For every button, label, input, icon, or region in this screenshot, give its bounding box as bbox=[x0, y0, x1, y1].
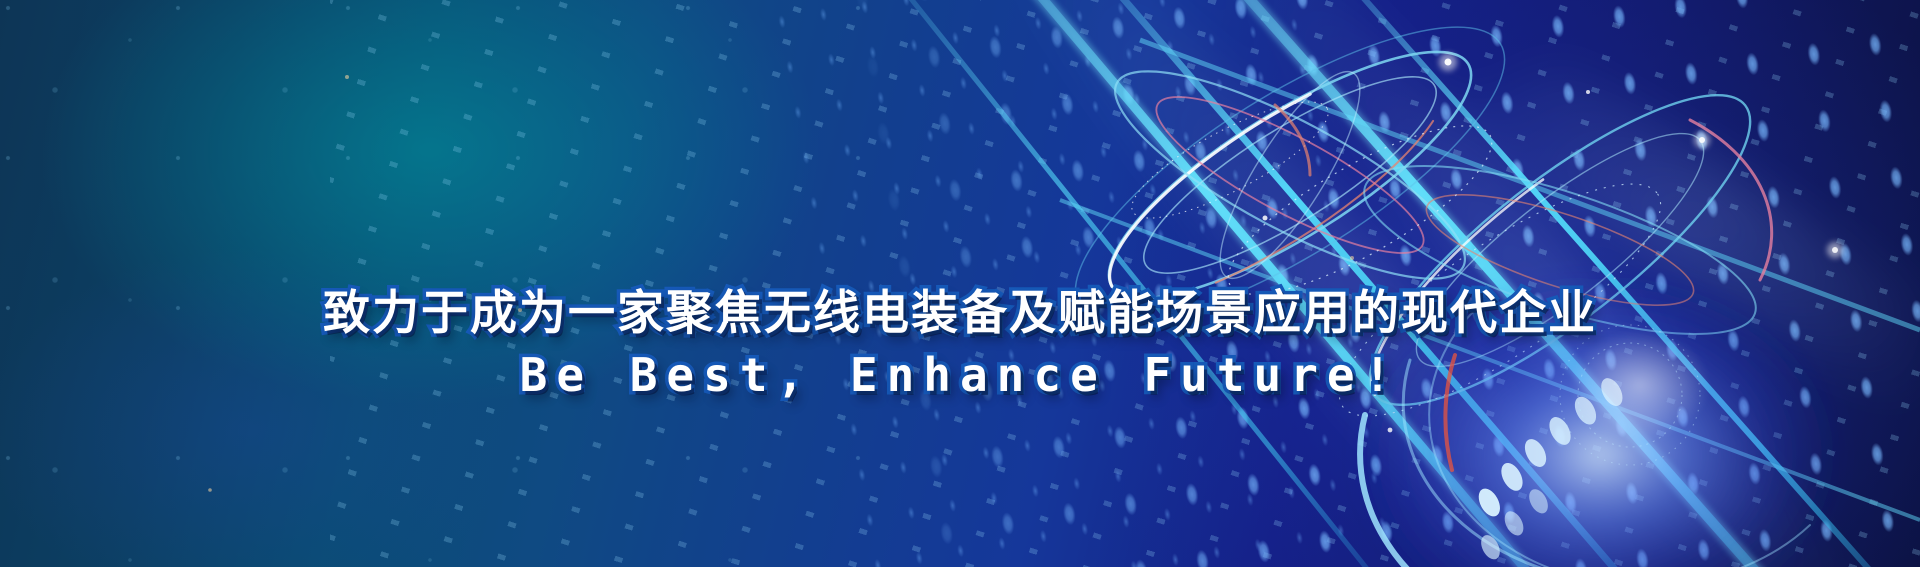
hero-banner: 致力于成为一家聚焦无线电装备及赋能场景应用的现代企业 Be Best, Enha… bbox=[0, 0, 1920, 567]
tech-graphic bbox=[0, 0, 1920, 567]
headline-english: Be Best, Enhance Future! bbox=[0, 350, 1920, 401]
headline-chinese: 致力于成为一家聚焦无线电装备及赋能场景应用的现代企业 bbox=[0, 286, 1920, 341]
banner-copy: 致力于成为一家聚焦无线电装备及赋能场景应用的现代企业 Be Best, Enha… bbox=[0, 286, 1920, 401]
